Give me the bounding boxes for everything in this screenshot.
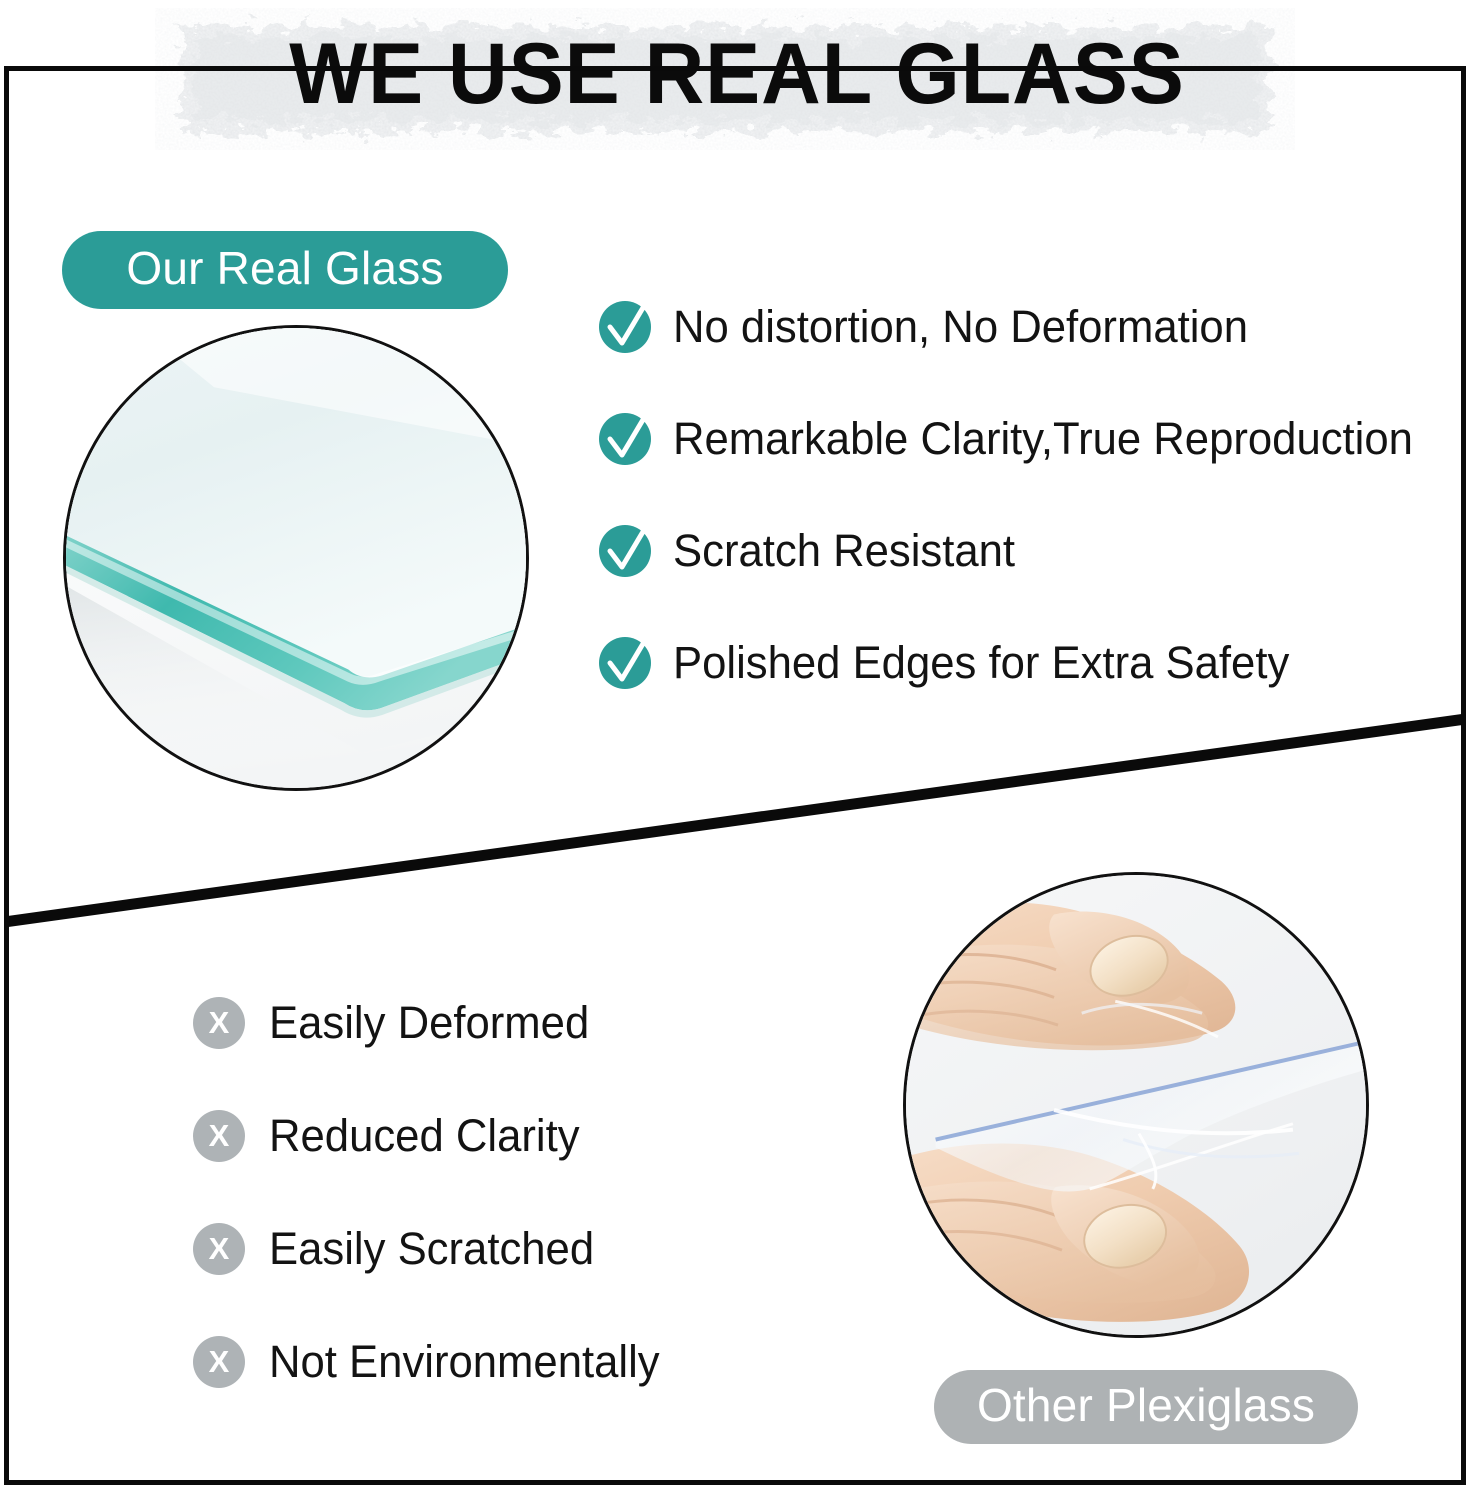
drawback-row: X Not Environmentally bbox=[193, 1332, 833, 1392]
plexiglass-photo bbox=[903, 872, 1369, 1338]
feature-label: No distortion, No Deformation bbox=[673, 301, 1248, 353]
feature-label: Polished Edges for Extra Safety bbox=[673, 637, 1289, 689]
check-circle-icon bbox=[597, 523, 653, 579]
feature-row: Polished Edges for Extra Safety bbox=[597, 624, 1457, 702]
real-glass-photo bbox=[63, 325, 529, 791]
feature-row: Scratch Resistant bbox=[597, 512, 1457, 590]
other-plexiglass-badge: Other Plexiglass bbox=[934, 1370, 1358, 1444]
drawback-label: Easily Deformed bbox=[269, 997, 589, 1049]
x-circle-icon: X bbox=[193, 1336, 245, 1388]
feature-row: No distortion, No Deformation bbox=[597, 288, 1457, 366]
x-circle-icon: X bbox=[193, 1110, 245, 1162]
check-circle-icon bbox=[597, 411, 653, 467]
feature-label: Remarkable Clarity,True Reproduction bbox=[673, 413, 1413, 465]
x-circle-icon: X bbox=[193, 1223, 245, 1275]
our-real-glass-badge: Our Real Glass bbox=[62, 231, 508, 309]
drawback-row: X Easily Scratched bbox=[193, 1219, 833, 1279]
feature-row: Remarkable Clarity,True Reproduction bbox=[597, 400, 1457, 478]
our-real-glass-badge-label: Our Real Glass bbox=[126, 245, 443, 291]
our-glass-feature-list: No distortion, No Deformation Remarkable… bbox=[597, 288, 1457, 702]
check-circle-icon bbox=[597, 299, 653, 355]
drawback-row: X Easily Deformed bbox=[193, 993, 833, 1053]
infographic-canvas: WE USE REAL GLASS Our Real Glass bbox=[0, 0, 1474, 1500]
x-circle-icon: X bbox=[193, 997, 245, 1049]
drawback-label: Reduced Clarity bbox=[269, 1110, 580, 1162]
feature-label: Scratch Resistant bbox=[673, 525, 1015, 577]
other-plexiglass-badge-label: Other Plexiglass bbox=[977, 1382, 1315, 1428]
drawback-row: X Reduced Clarity bbox=[193, 1106, 833, 1166]
drawback-label: Easily Scratched bbox=[269, 1223, 594, 1275]
other-plexiglass-drawback-list: X Easily Deformed X Reduced Clarity X Ea… bbox=[193, 993, 833, 1392]
drawback-label: Not Environmentally bbox=[269, 1336, 660, 1388]
check-circle-icon bbox=[597, 635, 653, 691]
